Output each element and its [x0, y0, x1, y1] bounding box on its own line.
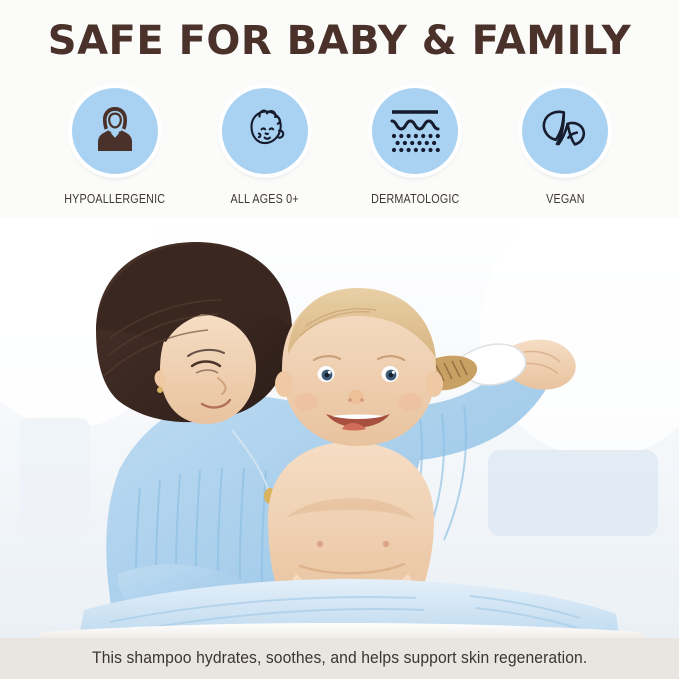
feature-badge-label: HYPOALLERGENIC [65, 192, 166, 206]
footer-caption-bar: This shampoo hydrates, soothes, and help… [0, 638, 679, 679]
leaves-icon [537, 104, 593, 159]
feature-badge-all-ages: ALL AGES 0+ [190, 88, 340, 206]
doctor-icon [89, 103, 141, 160]
footer-caption: This shampoo hydrates, soothes, and help… [92, 649, 587, 668]
feature-badge-row: HYPOALLERGENIC [40, 88, 640, 206]
feature-badge-vegan: VEGAN [490, 88, 640, 206]
badge-disc [522, 88, 608, 174]
feature-badge-label: DERMATOLOGIC [371, 192, 459, 206]
feature-badge-dermatologic: DERMATOLOGIC [340, 88, 490, 206]
baby-face-icon [238, 102, 292, 161]
badge-disc [372, 88, 458, 174]
skin-layers-icon [387, 104, 443, 159]
badge-disc [222, 88, 308, 174]
feature-badge-label: VEGAN [546, 192, 584, 206]
product-infographic: SAFE FOR BABY & FAMILY [0, 0, 679, 679]
badge-disc [72, 88, 158, 174]
feature-badge-hypoallergenic: HYPOALLERGENIC [40, 88, 190, 206]
page-title: SAFE FOR BABY & FAMILY [0, 18, 679, 64]
lifestyle-photo [0, 218, 679, 642]
feature-badge-label: ALL AGES 0+ [231, 192, 299, 206]
